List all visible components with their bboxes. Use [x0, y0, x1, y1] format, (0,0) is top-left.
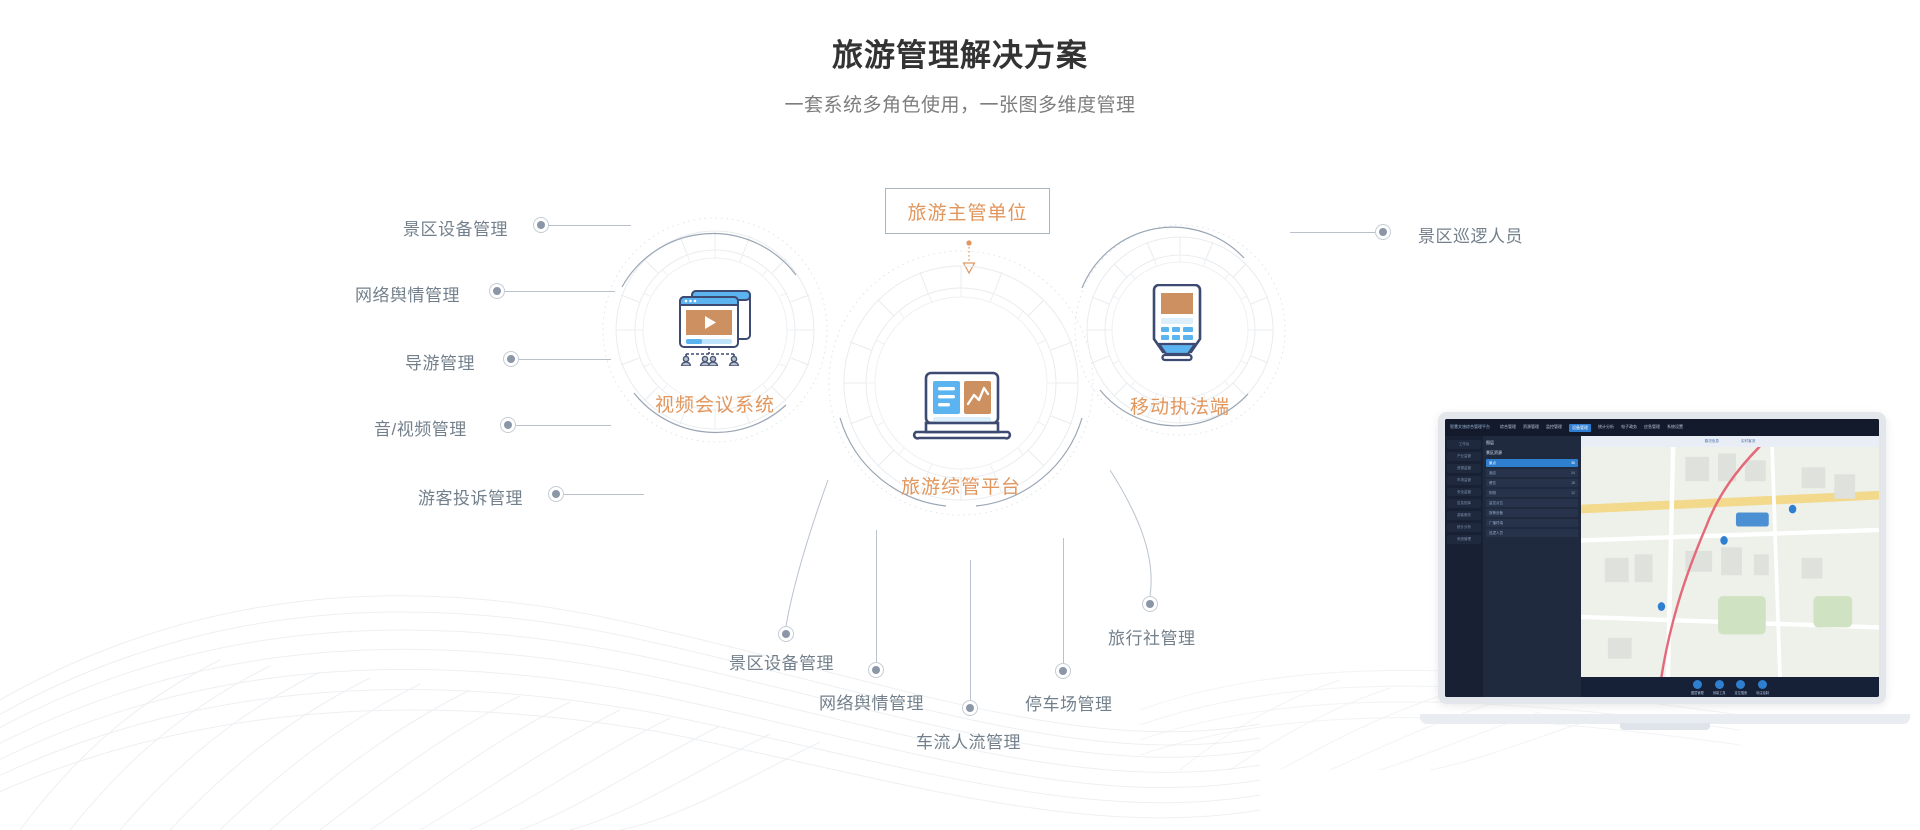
right-label-0[interactable]: 景区巡逻人员 [1418, 222, 1523, 247]
page-title: 旅游管理解决方案 [0, 34, 1920, 77]
left-connector-3 [516, 425, 611, 426]
bottom-connector-2 [970, 560, 971, 706]
layer-panel-title: 图层 [1486, 439, 1578, 447]
layer-row-3-name: 购物 [1489, 491, 1496, 496]
layer-subrow-2[interactable]: 广播终端 [1486, 519, 1578, 527]
layer-row-1-name: 酒店 [1489, 471, 1496, 476]
page-subtitle: 一套系统多角色使用，一张图多维度管理 [0, 93, 1920, 120]
bottom-connector-3 [1063, 538, 1064, 663]
bottom-dot-0[interactable] [778, 626, 794, 642]
left-dot-4[interactable] [548, 486, 564, 502]
map-footer-toolbar: 图层管理 测量工具 定位搜索 [1581, 677, 1879, 697]
bottom-dot-4[interactable] [1142, 596, 1158, 612]
layers-icon [1693, 680, 1702, 689]
solution-diagram: 旅游管理解决方案 一套系统多角色使用，一张图多维度管理 旅游主管单位 [0, 0, 1920, 810]
left-label-1[interactable]: 网络舆情管理 [355, 281, 460, 306]
layer-row-0-name: 景点 [1489, 461, 1496, 466]
layer-row-1[interactable]: 酒店 24 [1486, 469, 1578, 477]
laptop-mockup: 智慧文旅综合管理平台 综合管理 资源管理 监控管理 设备管理 统计分析 电子政务… [1420, 412, 1910, 742]
layer-subrow-1[interactable]: 报警设备 [1486, 509, 1578, 517]
map-toolbar-item-0[interactable]: 路况信息 [1705, 439, 1719, 444]
left-dot-0[interactable] [533, 217, 549, 233]
left-label-3[interactable]: 音/视频管理 [374, 415, 467, 440]
dashboard-tab-4[interactable]: 统计分析 [1598, 424, 1614, 432]
dashboard-tab-6[interactable]: 应急管理 [1644, 424, 1660, 432]
bottom-label-4[interactable]: 旅行社管理 [1108, 624, 1196, 649]
laptop-base-notch [1620, 723, 1710, 730]
dashboard-tab-0[interactable]: 综合管理 [1500, 424, 1516, 432]
bottom-label-3[interactable]: 停车场管理 [1025, 690, 1113, 715]
layer-row-1-count: 24 [1571, 471, 1575, 476]
layer-row-2[interactable]: 餐饮 18 [1486, 479, 1578, 487]
layer-row-2-name: 餐饮 [1489, 481, 1496, 486]
map-toolbar: 路况信息 实时客流 [1581, 436, 1879, 447]
left-connector-1 [505, 291, 615, 292]
laptop-dashboard-icon [912, 370, 1012, 446]
footer-button-2[interactable]: 定位搜索 [1735, 680, 1748, 695]
sidebar-item-2[interactable]: 资源监管 [1447, 464, 1481, 473]
footer-button-3[interactable]: 标注绘制 [1756, 680, 1769, 695]
left-label-2[interactable]: 导游管理 [405, 349, 475, 374]
left-connector-4 [564, 494, 644, 495]
dashboard-tab-2[interactable]: 监控管理 [1546, 424, 1562, 432]
left-dot-3[interactable] [500, 417, 516, 433]
dashboard-sidebar: 工作台 产业监管 资源监管 市场监管 安全监管 应急指挥 游客服务 统计分析 系… [1445, 436, 1483, 697]
dashboard-tab-5[interactable]: 电子政务 [1621, 424, 1637, 432]
left-connector-2 [519, 359, 611, 360]
dashboard-map[interactable]: 路况信息 实时客流 图层管理 测量工具 [1581, 436, 1879, 697]
footer-button-1[interactable]: 测量工具 [1713, 680, 1726, 695]
map-canvas-icon [1581, 436, 1879, 697]
dashboard-topbar: 智慧文旅综合管理平台 综合管理 资源管理 监控管理 设备管理 统计分析 电子政务… [1445, 419, 1879, 436]
footer-button-2-label: 定位搜索 [1735, 690, 1748, 695]
left-connector-0 [549, 225, 631, 226]
locate-icon [1736, 680, 1745, 689]
sidebar-item-1[interactable]: 产业监管 [1447, 452, 1481, 461]
layer-row-2-count: 18 [1571, 481, 1575, 486]
footer-button-0-label: 图层管理 [1691, 690, 1704, 695]
dashboard-tab-7[interactable]: 系统设置 [1667, 424, 1683, 432]
sidebar-item-6[interactable]: 游客服务 [1447, 511, 1481, 520]
dashboard-brand: 智慧文旅综合管理平台 [1450, 425, 1490, 429]
layer-row-3[interactable]: 购物 12 [1486, 489, 1578, 497]
sidebar-item-5[interactable]: 应急指挥 [1447, 499, 1481, 508]
gov-unit-box[interactable]: 旅游主管单位 [885, 188, 1050, 234]
ruler-icon [1715, 680, 1724, 689]
bottom-dot-2[interactable] [962, 700, 978, 716]
page-header: 旅游管理解决方案 一套系统多角色使用，一张图多维度管理 [0, 34, 1920, 120]
dashboard-tabs: 综合管理 资源管理 监控管理 设备管理 统计分析 电子政务 应急管理 系统设置 [1500, 424, 1683, 432]
layer-row-0[interactable]: 景点 36 [1486, 459, 1578, 467]
gov-unit-label: 旅游主管单位 [907, 198, 1027, 225]
left-label-0[interactable]: 景区设备管理 [403, 215, 508, 240]
bottom-label-1[interactable]: 网络舆情管理 [819, 689, 924, 714]
layer-subrow-0[interactable]: 监控点位 [1486, 499, 1578, 507]
bottom-label-2[interactable]: 车流人流管理 [916, 728, 1021, 753]
sidebar-item-8[interactable]: 系统管理 [1447, 535, 1481, 544]
left-label-4[interactable]: 游客投诉管理 [418, 484, 523, 509]
footer-button-0[interactable]: 图层管理 [1691, 680, 1704, 695]
right-connector-0 [1290, 232, 1375, 233]
video-window-icon [672, 286, 760, 366]
sidebar-item-7[interactable]: 统计分析 [1447, 523, 1481, 532]
ring-label-video-conference: 视频会议系统 [600, 390, 830, 417]
bottom-connector-0 [770, 480, 830, 630]
laptop-lid: 智慧文旅综合管理平台 综合管理 资源管理 监控管理 设备管理 统计分析 电子政务… [1438, 412, 1886, 704]
left-dot-1[interactable] [489, 283, 505, 299]
footer-button-3-label: 标注绘制 [1756, 690, 1769, 695]
dashboard-tab-3[interactable]: 设备管理 [1569, 424, 1591, 432]
bottom-dot-3[interactable] [1055, 663, 1071, 679]
bottom-dot-1[interactable] [868, 662, 884, 678]
layer-row-0-count: 36 [1571, 461, 1575, 466]
dashboard-body: 工作台 产业监管 资源监管 市场监管 安全监管 应急指挥 游客服务 统计分析 系… [1445, 436, 1879, 697]
left-dot-2[interactable] [503, 351, 519, 367]
sidebar-item-4[interactable]: 安全监管 [1447, 488, 1481, 497]
bottom-connector-1 [876, 530, 877, 662]
right-dot-0[interactable] [1375, 224, 1391, 240]
footer-button-1-label: 测量工具 [1713, 690, 1726, 695]
layer-row-3-count: 12 [1571, 491, 1575, 496]
sidebar-item-3[interactable]: 市场监管 [1447, 476, 1481, 485]
sidebar-item-0[interactable]: 工作台 [1447, 440, 1481, 449]
dashboard-layer-panel: 图层 景区资源 景点 36 酒店 24 餐饮 18 [1483, 436, 1581, 697]
map-toolbar-item-1[interactable]: 实时客流 [1741, 439, 1755, 444]
ring-label-mobile-enforcement: 移动执法端 [1072, 392, 1288, 419]
bottom-label-0[interactable]: 景区设备管理 [729, 649, 834, 674]
layer-subrow-3[interactable]: 巡逻人员 [1486, 529, 1578, 537]
dashboard-screen: 智慧文旅综合管理平台 综合管理 资源管理 监控管理 设备管理 统计分析 电子政务… [1445, 419, 1879, 697]
pen-icon [1758, 680, 1767, 689]
dashboard-tab-1[interactable]: 资源管理 [1523, 424, 1539, 432]
layer-group-label: 景区资源 [1486, 449, 1578, 457]
bottom-connector-4 [1110, 470, 1190, 600]
handheld-terminal-icon [1146, 284, 1208, 366]
ring-label-tourism-platform: 旅游综管平台 [826, 472, 1096, 499]
